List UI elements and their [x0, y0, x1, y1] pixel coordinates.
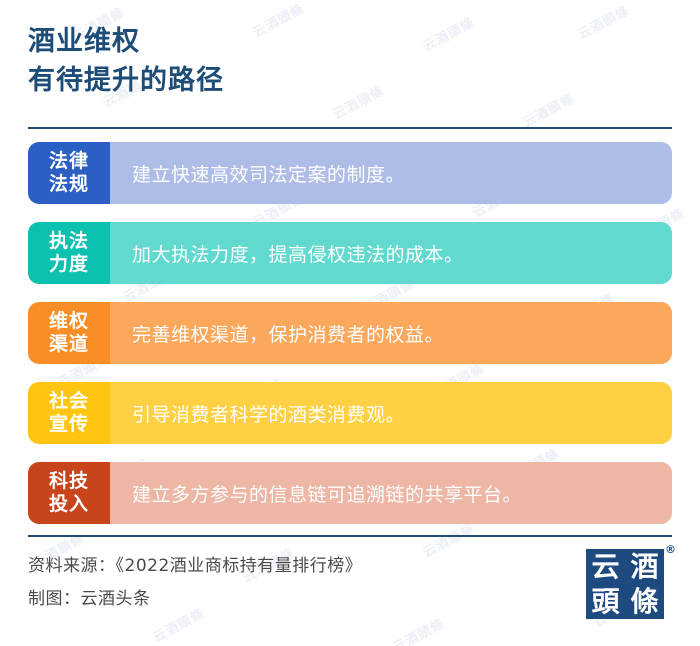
watermark-text: 云酒頭條 — [249, 0, 307, 41]
list-item[interactable]: 法律 法规 建立快速高效司法定案的制度。 — [28, 142, 672, 204]
divider-bottom — [28, 535, 672, 537]
list-item[interactable]: 社会 宣传 引导消费者科学的酒类消费观。 — [28, 382, 672, 444]
row-text: 加大执法力度，提高侵权违法的成本。 — [110, 222, 672, 284]
row-label-line-2: 法规 — [49, 173, 89, 196]
credit-line: 制图：云酒头条 — [28, 583, 362, 616]
row-text: 完善维权渠道，保护消费者的权益。 — [110, 302, 672, 364]
watermark-text: 云酒頭條 — [574, 0, 632, 43]
brand-logo: 云 酒 頭 條 ® — [586, 543, 676, 623]
row-label-line-2: 渠道 — [49, 333, 89, 356]
row-text: 建立多方参与的信息链可追溯链的共享平台。 — [110, 462, 672, 524]
list-item[interactable]: 维权 渠道 完善维权渠道，保护消费者的权益。 — [28, 302, 672, 364]
source-line: 资料来源：《2022酒业商标持有量排行榜》 — [28, 550, 362, 583]
infographic-page: 云酒頭條 云酒頭條 云酒頭條 云酒頭條 云酒頭條 云酒頭條 云酒頭條 云酒頭條 … — [0, 0, 700, 646]
logo-char-3: 頭 — [591, 587, 619, 617]
registered-trademark-icon: ® — [665, 543, 676, 556]
row-label-channels: 维权 渠道 — [28, 302, 110, 364]
watermark-text: 云酒頭條 — [419, 12, 477, 55]
logo-char-4: 條 — [630, 587, 658, 617]
row-label-line-2: 力度 — [49, 253, 89, 276]
row-label-line-1: 法律 — [49, 150, 89, 173]
list-item[interactable]: 执法 力度 加大执法力度，提高侵权违法的成本。 — [28, 222, 672, 284]
row-label-technology: 科技 投入 — [28, 462, 110, 524]
watermark-text: 云酒頭條 — [329, 80, 387, 123]
logo-char-1: 云 — [591, 552, 619, 582]
logo-char-2: 酒 — [630, 552, 658, 582]
watermark-text: 云酒頭條 — [419, 518, 477, 561]
row-label-line-2: 投入 — [49, 493, 89, 516]
row-label-line-1: 执法 — [49, 230, 89, 253]
pathway-list: 法律 法规 建立快速高效司法定案的制度。 执法 力度 加大执法力度，提高侵权违法… — [28, 142, 672, 524]
logo-box: 云 酒 頭 條 — [586, 549, 664, 619]
footer: 资料来源：《2022酒业商标持有量排行榜》 制图：云酒头条 — [28, 550, 362, 616]
row-label-line-1: 维权 — [49, 310, 89, 333]
row-label-line-2: 宣传 — [49, 413, 89, 436]
list-item[interactable]: 科技 投入 建立多方参与的信息链可追溯链的共享平台。 — [28, 462, 672, 524]
row-label-publicity: 社会 宣传 — [28, 382, 110, 444]
row-label-line-1: 社会 — [49, 390, 89, 413]
page-title: 酒业维权 有待提升的路径 — [28, 22, 224, 100]
title-line-1: 酒业维权 — [28, 22, 224, 61]
row-label-legal: 法律 法规 — [28, 142, 110, 204]
divider-top — [28, 127, 672, 129]
row-text: 引导消费者科学的酒类消费观。 — [110, 382, 672, 444]
row-label-enforcement: 执法 力度 — [28, 222, 110, 284]
watermark-text: 云酒頭條 — [519, 88, 577, 131]
row-text: 建立快速高效司法定案的制度。 — [110, 142, 672, 204]
title-line-2: 有待提升的路径 — [28, 61, 224, 100]
watermark-text: 云酒頭條 — [389, 613, 447, 646]
row-label-line-1: 科技 — [49, 470, 89, 493]
